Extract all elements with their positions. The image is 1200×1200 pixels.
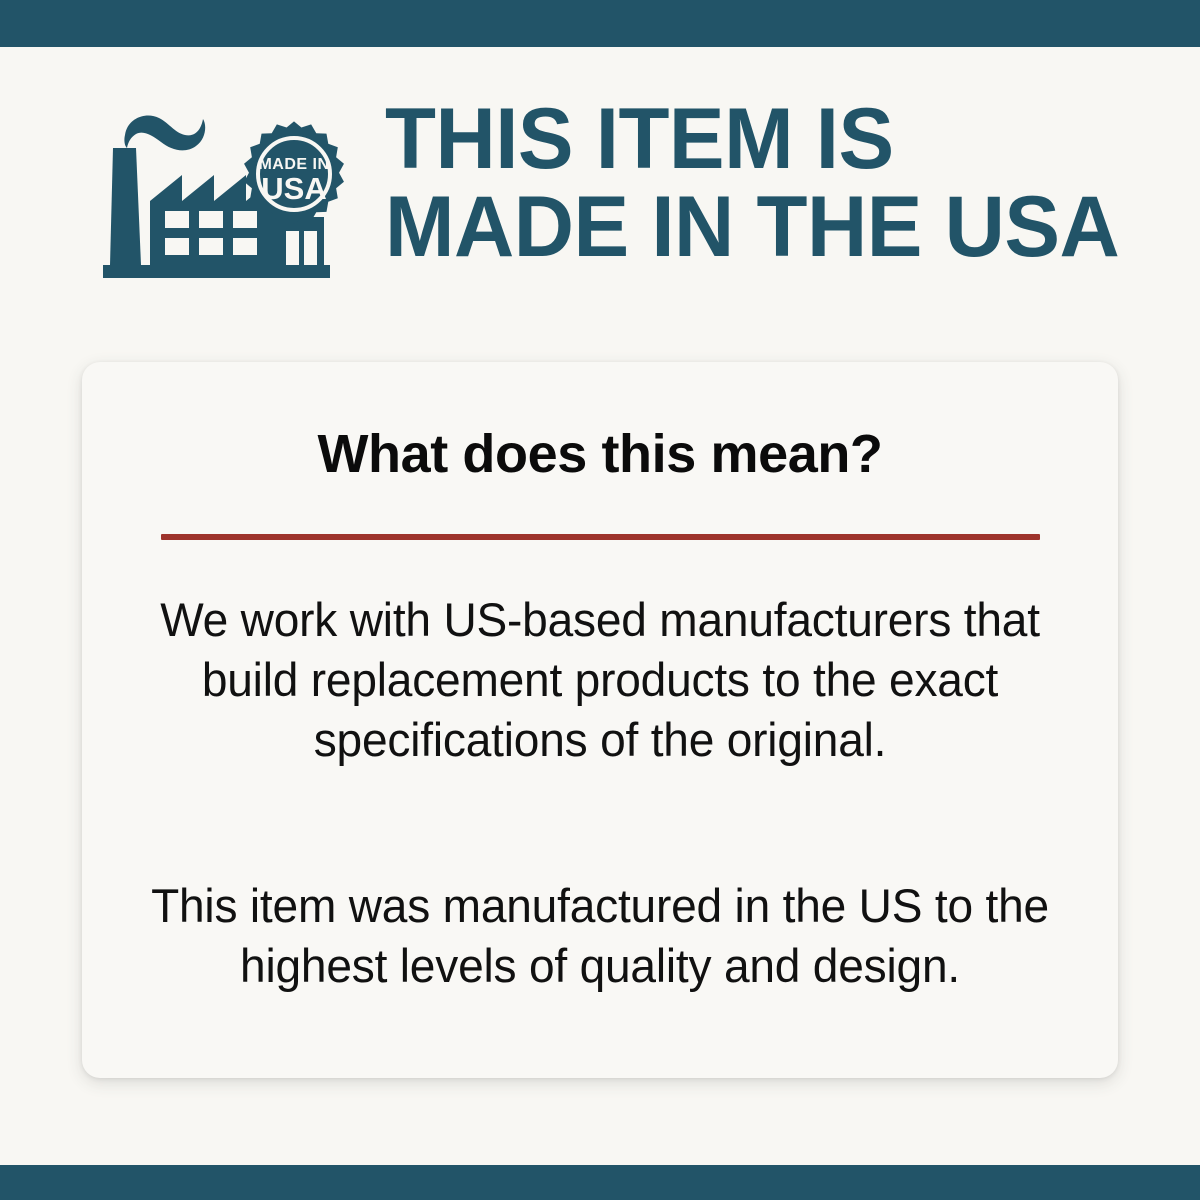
top-accent-band [0, 0, 1200, 47]
info-card: What does this mean? We work with US-bas… [82, 362, 1118, 1078]
divider-rule [161, 534, 1040, 540]
svg-text:USA: USA [261, 171, 326, 206]
headline-line-2: MADE IN THE USA [385, 183, 1151, 271]
card-heading: What does this mean? [82, 424, 1118, 484]
header: MADE IN USA THIS ITEM IS MADE IN THE USA [0, 95, 1200, 295]
page-title: THIS ITEM IS MADE IN THE USA [385, 95, 1151, 271]
bottom-accent-band [0, 1165, 1200, 1200]
made-in-usa-banner: MADE IN USA THIS ITEM IS MADE IN THE USA… [0, 0, 1200, 1200]
card-paragraph-2: This item was manufactured in the US to … [137, 876, 1062, 996]
factory-icon: MADE IN USA [103, 105, 353, 290]
factory-badge-logo: MADE IN USA [103, 105, 353, 290]
headline-line-1: THIS ITEM IS [385, 95, 1151, 183]
card-paragraph-1: We work with US-based manufacturers that… [137, 590, 1062, 770]
